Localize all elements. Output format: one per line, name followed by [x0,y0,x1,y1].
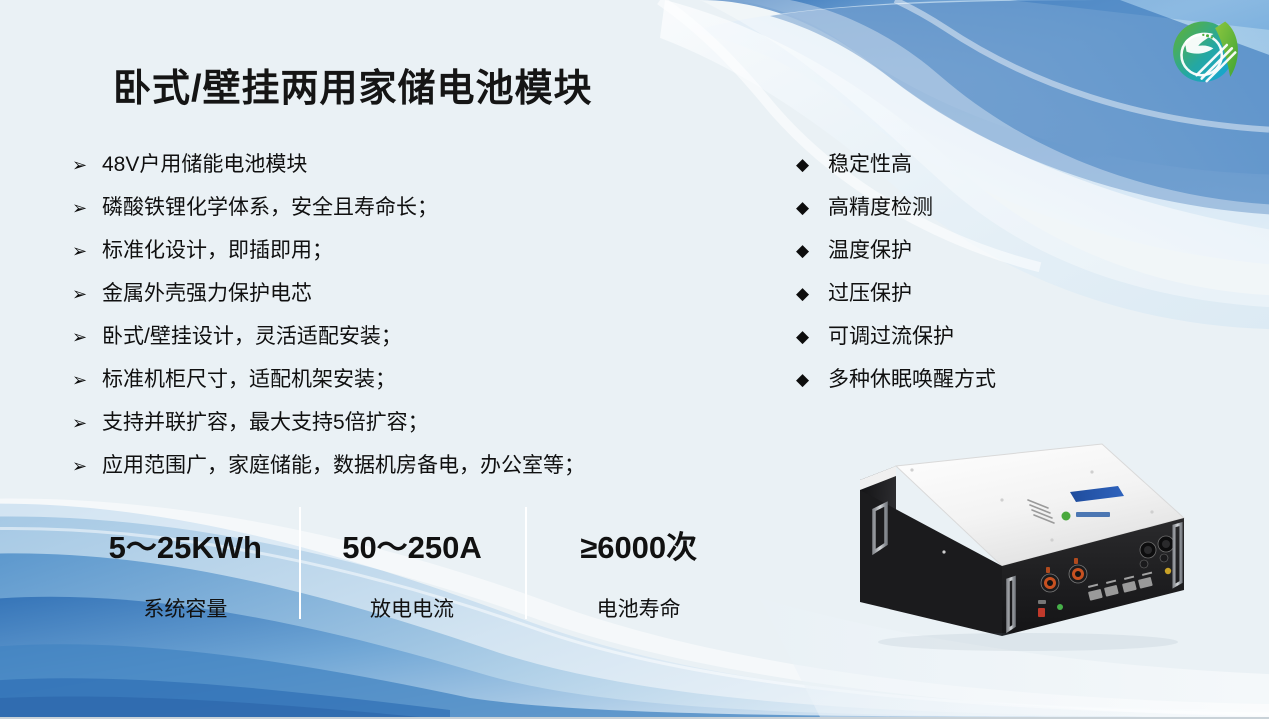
arrow-bullet-icon: ➢ [72,281,102,307]
stat-value: 5～25KWh [109,522,262,567]
feature-list-right: ◆ 稳定性高 ◆ 高精度检测 ◆ 温度保护 ◆ 过压保护 ◆ 可调过流保护 ◆ … [796,152,1096,410]
list-item: ◆ 温度保护 [796,238,1096,281]
diamond-bullet-icon: ◆ [796,281,828,307]
list-item: ◆ 多种休眠唤醒方式 [796,367,1096,410]
list-item: ➢ 卧式/壁挂设计，灵活适配安装； [72,324,712,367]
diamond-bullet-icon: ◆ [796,238,828,264]
battery-module-photo [852,440,1192,655]
list-item-label: 可调过流保护 [828,324,954,350]
list-item-label: 多种休眠唤醒方式 [828,367,996,393]
list-item-label: 应用范围广，家庭储能，数据机房备电，办公室等； [102,453,585,479]
list-item: ➢ 应用范围广，家庭储能，数据机房备电，办公室等； [72,453,712,496]
stat-value: ≥6000次 [580,522,697,567]
list-item: ➢ 磷酸铁锂化学体系，安全且寿命长； [72,195,712,238]
list-item-label: 卧式/壁挂设计，灵活适配安装； [102,324,402,350]
diamond-bullet-icon: ◆ [796,367,828,393]
list-item: ➢ 标准机柜尺寸，适配机架安装； [72,367,712,410]
list-item-label: 稳定性高 [828,152,912,178]
feature-list-left: ➢ 48V户用储能电池模块 ➢ 磷酸铁锂化学体系，安全且寿命长； ➢ 标准化设计… [72,152,712,496]
list-item: ◆ 过压保护 [796,281,1096,324]
stat-label: 放电电流 [370,593,454,623]
list-item: ➢ 支持并联扩容，最大支持5倍扩容； [72,410,712,453]
list-item-label: 标准化设计，即插即用； [102,238,333,264]
arrow-bullet-icon: ➢ [72,453,102,479]
list-item-label: 支持并联扩容，最大支持5倍扩容； [102,410,429,436]
arrow-bullet-icon: ➢ [72,238,102,264]
slide-title: 卧式/壁挂两用家储电池模块 [113,57,593,112]
stat-label: 电池寿命 [597,593,681,623]
diamond-bullet-icon: ◆ [796,152,828,178]
arrow-bullet-icon: ➢ [72,410,102,436]
list-item: ➢ 金属外壳强力保护电芯 [72,281,712,324]
diamond-bullet-icon: ◆ [796,195,828,221]
list-item-label: 温度保护 [828,238,912,264]
list-item-label: 磷酸铁锂化学体系，安全且寿命长； [102,195,438,221]
list-item: ◆ 可调过流保护 [796,324,1096,367]
slide-root: 卧式/壁挂两用家储电池模块 ➢ 48V户用储能电池模块 ➢ 磷酸铁锂化学体系，安… [0,0,1269,719]
arrow-bullet-icon: ➢ [72,367,102,393]
stat-capacity: 5～25KWh 系统容量 [72,512,299,624]
list-item: ➢ 标准化设计，即插即用； [72,238,712,281]
list-item-label: 金属外壳强力保护电芯 [102,281,312,307]
stat-discharge-current: 50～250A 放电电流 [299,512,526,624]
list-item-label: 过压保护 [828,281,912,307]
list-item: ◆ 稳定性高 [796,152,1096,195]
stat-label: 系统容量 [143,593,227,623]
stat-value: 50～250A [342,522,482,567]
list-item: ◆ 高精度检测 [796,195,1096,238]
list-item: ➢ 48V户用储能电池模块 [72,152,712,195]
diamond-bullet-icon: ◆ [796,324,828,350]
arrow-bullet-icon: ➢ [72,324,102,350]
spec-stats-row: 5～25KWh 系统容量 50～250A 放电电流 ≥6000次 电池寿命 [72,512,752,624]
list-item-label: 高精度检测 [828,195,933,221]
list-item-label: 标准机柜尺寸，适配机架安装； [102,367,396,393]
company-logo [1163,8,1247,92]
list-item-label: 48V户用储能电池模块 [102,152,307,178]
stat-cycle-life: ≥6000次 电池寿命 [525,512,752,624]
arrow-bullet-icon: ➢ [72,195,102,221]
arrow-bullet-icon: ➢ [72,152,102,178]
